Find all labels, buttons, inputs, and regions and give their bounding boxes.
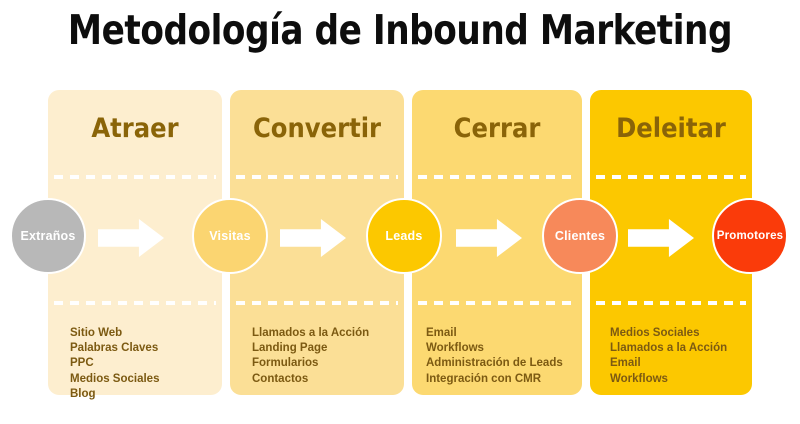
audience-node-label: Visitas	[209, 229, 250, 243]
tactic-item: Workflows	[610, 372, 744, 387]
audience-node-visitas: Visitas	[192, 198, 268, 274]
tactic-item: Email	[610, 356, 744, 371]
panel-divider-top	[236, 175, 398, 179]
audience-node-leads: Leads	[366, 198, 442, 274]
inbound-methodology-diagram: Metodología de Inbound Marketing Atraer …	[0, 0, 800, 424]
audience-node-extranos: Extraños	[10, 198, 86, 274]
tactic-item: Contactos	[252, 372, 396, 387]
audience-node-label: Leads	[385, 229, 422, 243]
panel-divider-bottom	[596, 301, 746, 305]
stage-header-atraer: Atraer	[48, 113, 222, 144]
tactic-item: Workflows	[426, 341, 574, 356]
panel-divider-bottom	[54, 301, 216, 305]
page-title: Metodología de Inbound Marketing	[28, 6, 772, 54]
tactic-item: Medios Sociales	[70, 372, 214, 387]
audience-node-promotores: Promotores	[712, 198, 788, 274]
tactic-item: Llamados a la Acción	[610, 341, 744, 356]
panel-divider-top	[596, 175, 746, 179]
panel-divider-top	[54, 175, 216, 179]
tactic-list-atraer: Sitio Web Palabras Claves PPC Medios Soc…	[70, 326, 214, 402]
audience-node-clientes: Clientes	[542, 198, 618, 274]
panel-divider-bottom	[236, 301, 398, 305]
tactic-item: Integración con CMR	[426, 372, 574, 387]
tactic-item: PPC	[70, 356, 214, 371]
stage-header-convertir: Convertir	[230, 113, 404, 144]
panel-divider-top	[418, 175, 576, 179]
tactic-item: Blog	[70, 387, 214, 402]
stage-header-deleitar: Deleitar	[590, 113, 752, 144]
stage-header-cerrar: Cerrar	[412, 113, 582, 144]
tactic-item: Palabras Claves	[70, 341, 214, 356]
tactic-item: Llamados a la Acción	[252, 326, 396, 341]
tactic-item: Administración de Leads	[426, 356, 574, 371]
tactic-list-cerrar: Email Workflows Administración de Leads …	[426, 326, 574, 387]
tactic-item: Sitio Web	[70, 326, 214, 341]
tactic-item: Formularios	[252, 356, 396, 371]
tactic-item: Medios Sociales	[610, 326, 744, 341]
audience-node-label: Clientes	[555, 229, 605, 243]
tactic-item: Landing Page	[252, 341, 396, 356]
audience-node-label: Promotores	[717, 230, 784, 242]
tactic-list-deleitar: Medios Sociales Llamados a la Acción Ema…	[610, 326, 744, 387]
panel-divider-bottom	[418, 301, 576, 305]
audience-node-label: Extraños	[20, 229, 75, 243]
tactic-item: Email	[426, 326, 574, 341]
tactic-list-convertir: Llamados a la Acción Landing Page Formul…	[252, 326, 396, 387]
